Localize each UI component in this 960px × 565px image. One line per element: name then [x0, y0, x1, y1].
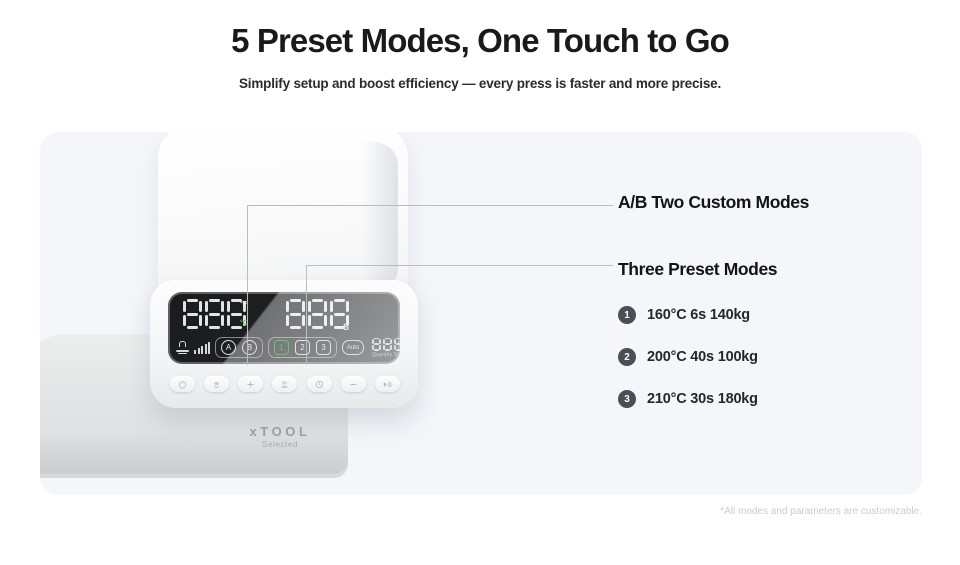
- signal-bars-icon: [194, 341, 210, 354]
- time-display: [286, 299, 349, 329]
- preset-number-badge: 2: [618, 348, 636, 366]
- preset-parameters: 200°C 40s 100kg: [647, 349, 758, 365]
- list-item: 2 200°C 40s 100kg: [618, 348, 918, 366]
- preset-number-badge: 1: [618, 306, 636, 324]
- custom-mode-b-badge[interactable]: B: [242, 340, 257, 355]
- auto-mode-badge[interactable]: Auto: [342, 340, 364, 355]
- list-item: 3 210°C 30s 180kg: [618, 390, 918, 408]
- temperature-display: [183, 299, 246, 329]
- quantity-digits: PCS: [372, 338, 400, 351]
- brand-logo-block: xTOOL Selected: [180, 424, 380, 449]
- leader-line-preset-vertical: [306, 265, 307, 365]
- footnote: *All modes and parameters are customizab…: [720, 506, 922, 517]
- preset-parameters: 210°C 30s 180kg: [647, 391, 758, 407]
- preset-mode-2-badge[interactable]: 2: [295, 340, 310, 355]
- seven-segment-digit: [286, 299, 305, 329]
- device-illustration: °F °C S: [40, 132, 500, 495]
- page-subtitle: Simplify setup and boost efficiency — ev…: [0, 76, 960, 91]
- pressure-button[interactable]: [272, 376, 297, 392]
- leader-line-preset-horizontal: [306, 265, 613, 266]
- temperature-button[interactable]: [204, 376, 229, 392]
- seven-segment-digit: [383, 338, 392, 351]
- brand-logo: xTOOL: [180, 424, 380, 439]
- leader-line-custom-vertical: [247, 205, 248, 365]
- seven-segment-digit: [308, 299, 327, 329]
- preset-parameters: 160°C 6s 140kg: [647, 307, 750, 323]
- preset-modes-heading: Three Preset Modes: [618, 259, 918, 280]
- list-item: 1 160°C 6s 140kg: [618, 306, 918, 324]
- increase-button[interactable]: [238, 376, 263, 392]
- seven-segment-digit: [183, 299, 202, 329]
- preset-mode-1-badge[interactable]: 1: [274, 340, 289, 355]
- seven-segment-digit: [205, 299, 224, 329]
- leader-line-custom-horizontal: [247, 205, 613, 206]
- power-button[interactable]: [170, 376, 195, 392]
- page-title: 5 Preset Modes, One Touch to Go: [0, 22, 960, 60]
- brand-tagline: Selected: [180, 440, 380, 449]
- preset-mode-3-badge[interactable]: 3: [316, 340, 331, 355]
- display-badge-row: A B 1 2 3 Auto: [176, 337, 400, 358]
- custom-modes-heading: A/B Two Custom Modes: [618, 192, 918, 213]
- device-control-head: °F °C S: [150, 280, 418, 408]
- annotation-panel: A/B Two Custom Modes Three Preset Modes …: [618, 192, 918, 432]
- custom-mode-group[interactable]: A B: [215, 337, 263, 358]
- press-icon: [176, 341, 189, 354]
- device-screen: °F °C S: [168, 292, 400, 364]
- decrease-button[interactable]: [341, 376, 366, 392]
- seven-segment-digit: [394, 338, 400, 351]
- seven-segment-digit: [372, 338, 381, 351]
- preset-number-badge: 3: [618, 390, 636, 408]
- timer-button[interactable]: [307, 376, 332, 392]
- quantity-statistics-label: Quantity Statistics: [372, 352, 400, 358]
- start-pause-button[interactable]: [375, 376, 400, 392]
- feature-card: °F °C S: [40, 132, 922, 495]
- page-root: 5 Preset Modes, One Touch to Go Simplify…: [0, 0, 960, 565]
- heading-block: 5 Preset Modes, One Touch to Go Simplify…: [0, 22, 960, 91]
- preset-list: 1 160°C 6s 140kg 2 200°C 40s 100kg 3 210…: [618, 306, 918, 408]
- physical-button-row: [170, 376, 400, 392]
- custom-mode-a-badge[interactable]: A: [221, 340, 236, 355]
- quantity-statistics-block: PCS Quantity Statistics: [372, 338, 400, 358]
- preset-mode-group[interactable]: 1 2 3: [268, 337, 337, 358]
- seconds-unit-label: S: [343, 322, 349, 332]
